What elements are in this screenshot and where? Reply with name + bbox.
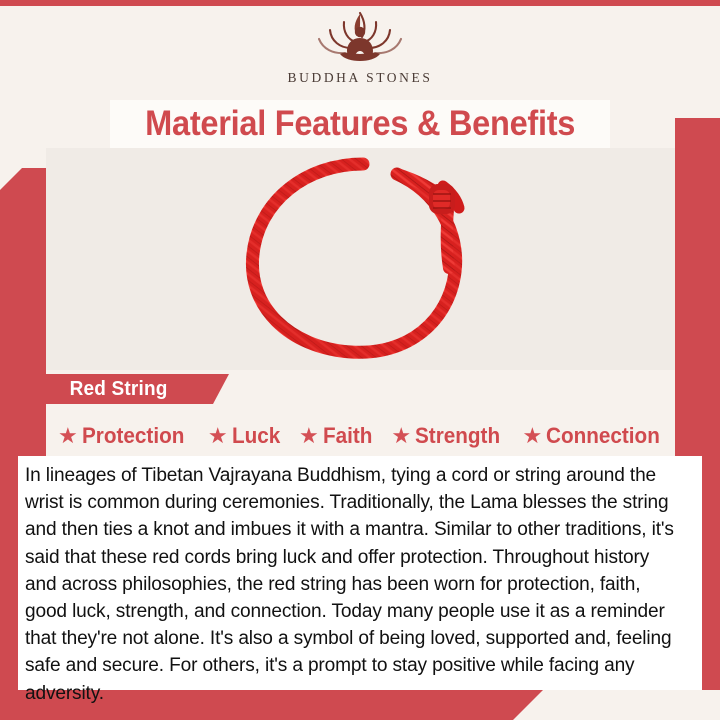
product-label: Red String bbox=[70, 378, 168, 401]
description-text: In lineages of Tibetan Vajrayana Buddhis… bbox=[25, 462, 676, 707]
brand-name: BUDDHA STONES bbox=[288, 70, 433, 86]
product-photo bbox=[46, 148, 675, 370]
star-icon: ★ bbox=[391, 425, 411, 447]
feature-item-strength: ★ Strength bbox=[391, 423, 507, 449]
feature-list: ★ Protection ★ Luck ★ Faith ★ Strength ★… bbox=[46, 418, 682, 454]
feature-label: Connection bbox=[546, 423, 660, 449]
feature-item-luck: ★ Luck bbox=[208, 423, 284, 449]
feature-item-faith: ★ Faith bbox=[299, 423, 376, 449]
feature-item-connection: ★ Connection bbox=[522, 423, 669, 449]
brand-header: BUDDHA STONES bbox=[0, 6, 720, 98]
feature-label: Strength bbox=[415, 423, 500, 449]
infographic-page: BUDDHA STONES Material Features & Benefi… bbox=[0, 0, 720, 720]
star-icon: ★ bbox=[522, 425, 542, 447]
product-label-ribbon: Red String bbox=[45, 374, 229, 404]
page-title: Material Features & Benefits bbox=[145, 104, 575, 144]
red-string-bracelet-image bbox=[211, 148, 511, 370]
feature-label: Protection bbox=[82, 423, 184, 449]
star-icon: ★ bbox=[208, 425, 228, 447]
feature-label: Faith bbox=[323, 423, 372, 449]
star-icon: ★ bbox=[299, 425, 319, 447]
feature-item-protection: ★ Protection bbox=[58, 423, 193, 449]
lotus-meditation-figure-icon bbox=[300, 10, 420, 68]
feature-label: Luck bbox=[232, 423, 280, 449]
page-title-banner: Material Features & Benefits bbox=[110, 100, 610, 148]
star-icon: ★ bbox=[58, 425, 78, 447]
description-panel: In lineages of Tibetan Vajrayana Buddhis… bbox=[18, 456, 702, 690]
